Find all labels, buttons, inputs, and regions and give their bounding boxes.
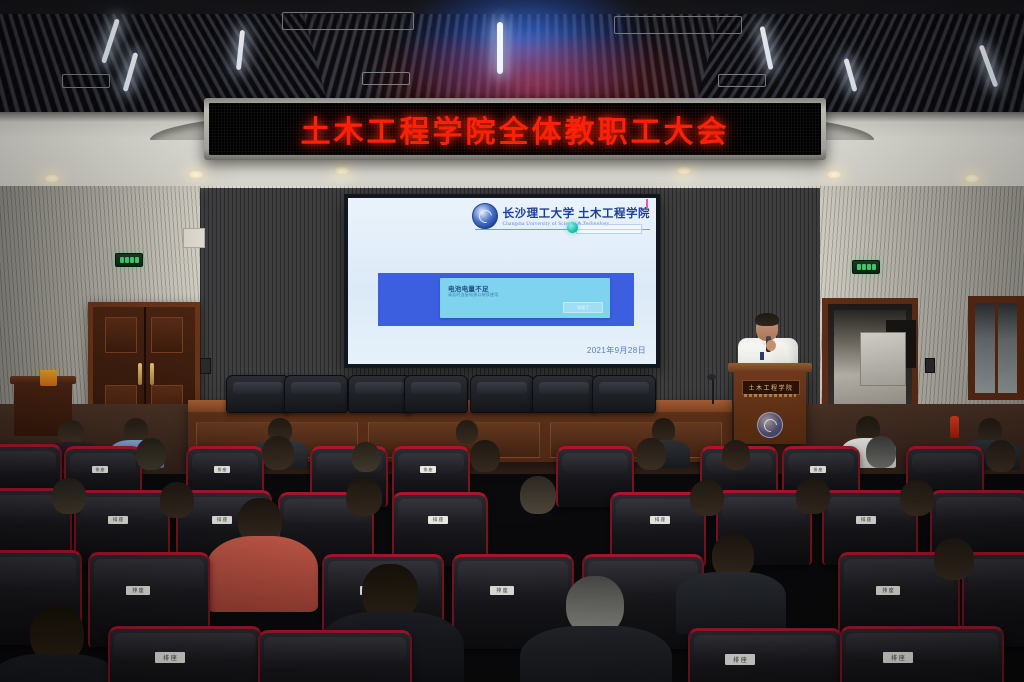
led-banner-screen: 土木工程学院全体教职工大会 [209,103,821,155]
slide-toolbar [576,224,642,234]
door-handle[interactable] [150,363,154,385]
exit-sign-right [852,260,880,274]
recessed-downlight [676,166,692,175]
ceiling-air-vent [282,12,414,30]
seat-number-tag: 排 座 [428,516,448,524]
podium-label: 土木工程学院 [742,380,800,395]
door-card-reader[interactable] [200,358,211,374]
speaker-hand [766,340,776,351]
attendee [352,442,380,472]
presidium-chair [284,375,348,413]
auditorium-seat[interactable] [258,630,412,682]
attendee [136,438,166,470]
interior-window-right [968,296,1024,400]
table-microphone-head [707,374,716,380]
auditorium-seat[interactable] [108,626,262,682]
seat-number-tag: 排 座 [420,466,436,473]
attendee [900,480,934,516]
led-banner-text: 土木工程学院全体教职工大会 [301,107,730,151]
led-banner: 土木工程学院全体教职工大会 [204,98,826,160]
attendee-foreground-body [520,626,672,682]
orange-object [40,370,57,386]
ceiling-air-vent [614,16,742,34]
door-panel [151,317,183,353]
podium-top [728,363,812,372]
presidium-chair [532,375,596,413]
light-switch-right[interactable] [925,358,935,373]
projection-screen: 长沙理工大学 土木工程学院 Changsha University of Sci… [344,194,660,368]
recessed-downlight [334,166,350,175]
recessed-downlight [826,170,842,179]
attendee [986,440,1016,472]
corridor-cabinet [860,332,906,386]
attendee [470,440,500,472]
presidium-chair [470,375,534,413]
slide-header-cn: 长沙理工大学 土木工程学院 [503,205,650,221]
attendee-foreground-body [0,654,120,682]
exit-sign-left [115,253,143,267]
speaker-hair [755,313,779,326]
audience-area: 排 座 排 座 排 座 排 座 排 座 [0,414,1024,682]
slide-status-dot [567,222,578,233]
attendee [160,482,194,518]
attendee-shoulders [676,572,786,634]
attendee [722,440,750,470]
attendee-red-shirt-body [206,536,318,612]
seat-number-tag: 排 座 [126,586,150,595]
auditorium-seat[interactable] [688,628,842,682]
seat-number-tag: 排 座 [725,654,755,665]
slide-date: 2021年9月28日 [587,345,646,356]
recessed-downlight [964,174,980,183]
attendee [456,420,478,444]
ceiling-air-vent [62,74,110,88]
ceiling-air-vent [362,72,410,85]
seat-number-tag: 排 座 [214,466,230,473]
attendee [796,478,830,514]
seat-number-tag: 排 座 [650,516,670,524]
seat-number-tag: 排 座 [883,652,913,663]
ceiling-air-vent [718,74,766,87]
seat-number-tag: 排 座 [108,516,128,524]
auditorium-photo: 土木工程学院全体教职工大会 [0,0,1024,682]
speaker-badge [760,352,764,360]
door-panel [105,317,137,353]
seat-number-tag: 排 座 [155,652,185,663]
dialog-confirm-button[interactable]: 知道了 [563,302,603,313]
presidium-chair [592,375,656,413]
attendee [636,438,666,470]
seat-number-tag: 排 座 [92,466,108,473]
slide-canvas: 长沙理工大学 土木工程学院 Changsha University of Sci… [348,198,656,364]
door-handle[interactable] [138,363,142,385]
podium-label-text: 土木工程学院 [748,383,793,392]
attendee [934,538,974,580]
seat-number-tag: 排 座 [876,586,900,595]
attendee [520,476,556,514]
recessed-downlight [44,174,60,183]
attendee [866,436,896,468]
linear-fluorescent-tube [497,22,503,74]
university-seal-logo [472,203,498,229]
slide-blue-band: 电池电量不足 请及时连接电源以继续使用 知道了 [378,273,634,326]
seat-number-tag: 排 座 [490,586,514,595]
dialog-subtitle: 请及时连接电源以继续使用 [448,292,498,298]
presidium-chair [404,375,468,413]
attendee [346,478,382,516]
recessed-downlight [188,170,204,179]
presidium-chair [348,375,412,413]
attendee [262,436,294,470]
slide-dialog: 电池电量不足 请及时连接电源以继续使用 知道了 [440,278,610,318]
seat-number-tag: 排 座 [212,516,232,524]
attendee [690,480,724,516]
seat-number-tag: 排 座 [810,466,826,473]
podium-label-subtext [744,394,796,397]
seat-number-tag: 排 座 [856,516,876,524]
auditorium-seat[interactable] [840,626,1004,682]
presidium-chair [226,375,290,413]
table-microphone [712,378,714,404]
attendee [52,478,86,514]
